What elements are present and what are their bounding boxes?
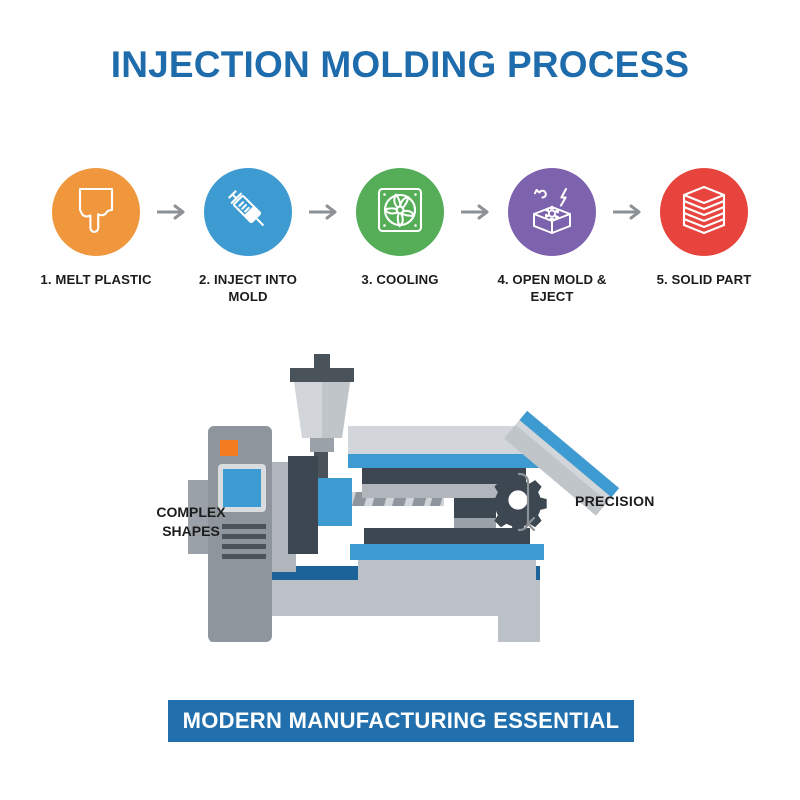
machine-vent-bar-3: [222, 544, 266, 549]
precision-label: PRECISION: [575, 493, 655, 509]
machine-lower-platen-dark: [364, 528, 530, 544]
bracket-arrow-left-icon: [518, 468, 578, 536]
step-5-label: 5. SOLID PART: [657, 271, 752, 288]
cooling-fan-icon: [375, 185, 425, 240]
syringe-icon: [221, 183, 275, 242]
step-3-circle: [356, 168, 444, 256]
machine-barrel-housing: [288, 456, 318, 554]
machine-upper-platen-blue: [348, 454, 540, 468]
stacked-parts-icon: [679, 184, 729, 241]
process-steps-row: 1. MELT PLASTIC: [40, 168, 760, 306]
process-step-2[interactable]: 2. INJECT INTO MOLD: [192, 168, 304, 306]
machine-hopper-body-shade: [322, 382, 350, 438]
melt-plastic-icon: [71, 184, 121, 241]
process-step-5[interactable]: 5. SOLID PART: [648, 168, 760, 288]
machine-screen: [223, 469, 261, 507]
step-2-label: 2. INJECT INTO MOLD: [192, 271, 304, 306]
step-arrow-3: [456, 204, 496, 220]
page-title: INJECTION MOLDING PROCESS: [0, 44, 800, 86]
step-1-label: 1. MELT PLASTIC: [40, 271, 151, 288]
machine-indicator-button: [220, 440, 238, 456]
step-1-circle: [52, 168, 140, 256]
machine-hopper-neck: [310, 438, 334, 452]
machine-base-right-leg: [498, 616, 540, 642]
process-step-1[interactable]: 1. MELT PLASTIC: [40, 168, 152, 288]
complex-shapes-label: COMPLEX SHAPES: [136, 503, 246, 541]
machine-hopper-knob: [314, 354, 330, 368]
step-2-circle: [204, 168, 292, 256]
process-step-3[interactable]: 3. COOLING: [344, 168, 456, 288]
step-4-label: 4. OPEN MOLD & EJECT: [496, 271, 608, 306]
open-mold-icon: [526, 184, 578, 241]
process-step-4[interactable]: 4. OPEN MOLD & EJECT: [496, 168, 608, 306]
step-arrow-2: [304, 204, 344, 220]
step-4-circle: [508, 168, 596, 256]
bottom-banner-text: MODERN MANUFACTURING ESSENTIAL: [183, 708, 620, 734]
machine-vent-bar-4: [222, 554, 266, 559]
machine-hopper-cap: [290, 368, 354, 382]
step-3-label: 3. COOLING: [361, 271, 438, 288]
step-arrow-1: [152, 204, 192, 220]
bottom-banner: MODERN MANUFACTURING ESSENTIAL: [168, 700, 634, 742]
complex-shapes-label-line1: COMPLEX: [136, 503, 246, 522]
machine-lower-platen-body: [358, 560, 536, 582]
step-arrow-4: [608, 204, 648, 220]
step-5-circle: [660, 168, 748, 256]
machine-barrel-blue-plate: [318, 478, 352, 526]
machine-lower-platen-blue: [350, 544, 544, 560]
complex-shapes-label-line2: SHAPES: [136, 522, 246, 541]
